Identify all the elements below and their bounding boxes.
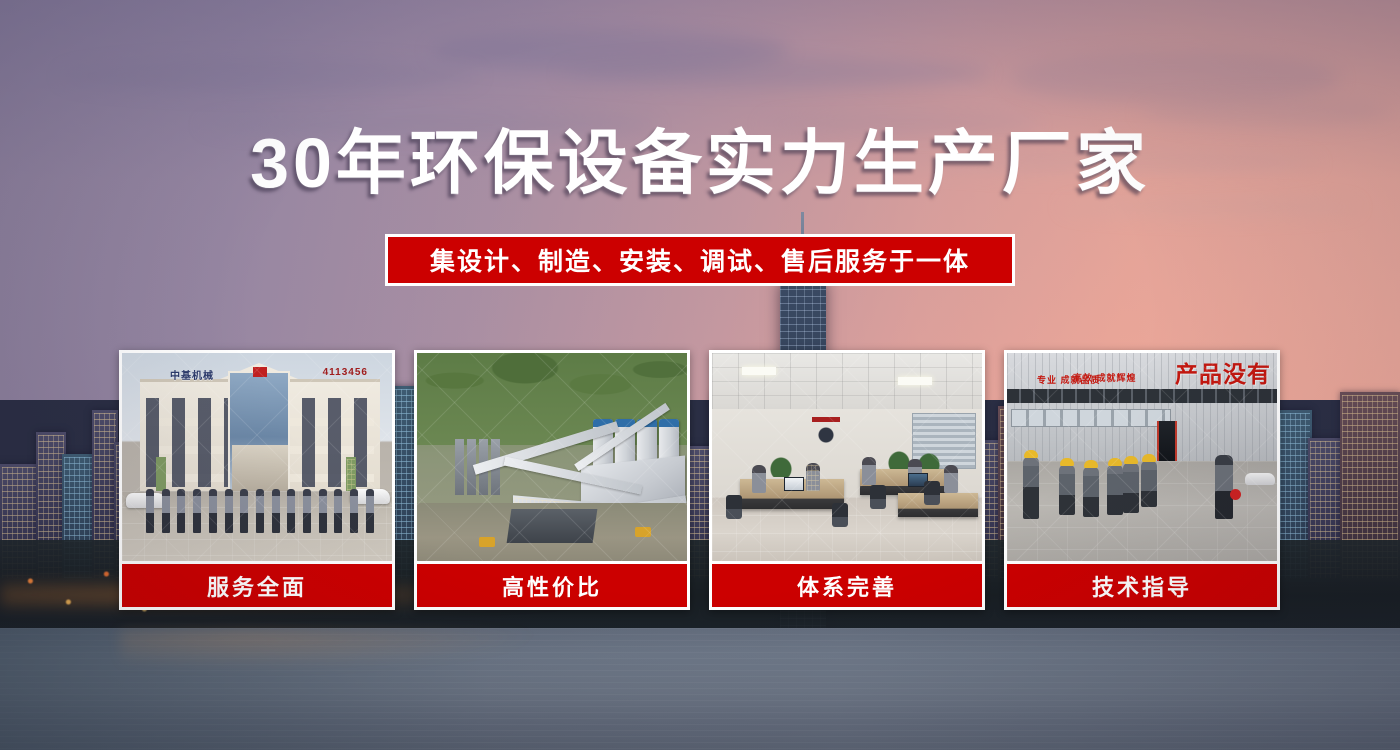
- factory-workers-training-photo: 产品没有 专业 成就品质 高效 成就辉煌: [1007, 353, 1277, 561]
- potted-plant: [888, 451, 910, 471]
- hero-banner: 30年环保设备实力生产厂家 集设计、制造、安装、调试、售后服务于一体 中基机械 …: [0, 0, 1400, 750]
- dark-shed-roof: [507, 509, 598, 543]
- card-label-text: 体系完善: [797, 570, 897, 602]
- office-chair: [832, 503, 848, 527]
- factory-windows: [1011, 409, 1171, 427]
- wall-decal: [808, 417, 844, 447]
- office-worker: [862, 457, 876, 485]
- card-label-text: 服务全面: [207, 570, 307, 602]
- phone-sign-text: 4113456: [323, 367, 368, 378]
- office-worker: [944, 465, 958, 493]
- card-label-bar: 服务全面: [122, 561, 392, 607]
- card-label-bar: 高性价比: [417, 561, 687, 607]
- card-label-text: 技术指导: [1092, 570, 1192, 602]
- ceiling-light: [742, 367, 776, 375]
- potted-plant: [770, 457, 792, 477]
- subtitle-banner: 集设计、制造、安装、调试、售后服务于一体: [385, 234, 1015, 286]
- office-interior-staff-photo: [712, 353, 982, 561]
- worker-with-hardhat: [1123, 463, 1139, 513]
- factory-door: [1157, 421, 1177, 461]
- building-entrance: [232, 445, 288, 491]
- feature-card-value[interactable]: 高性价比: [414, 350, 690, 610]
- card-label-text: 高性价比: [502, 570, 602, 602]
- feature-card-system[interactable]: 体系完善: [709, 350, 985, 610]
- smokestack: [455, 439, 464, 495]
- worker-with-hardhat: [1107, 465, 1123, 515]
- factory-sign-main-text: 产品没有: [1175, 355, 1271, 389]
- office-ceiling: [712, 353, 982, 409]
- ceiling-light: [898, 377, 932, 385]
- feature-card-service[interactable]: 中基机械 4113456 服务全面: [119, 350, 395, 610]
- factory-window-strip: [1007, 389, 1277, 403]
- worker-with-hardhat: [1141, 461, 1157, 507]
- staff-lineup: [146, 489, 374, 533]
- office-worker: [752, 465, 766, 493]
- subtitle-text: 集设计、制造、安装、调试、售后服务于一体: [430, 242, 970, 278]
- flag-icon: [253, 367, 267, 377]
- page-title: 30年环保设备实力生产厂家: [0, 128, 1400, 198]
- feature-card-training[interactable]: 产品没有 专业 成就品质 高效 成就辉煌 技术指导: [1004, 350, 1280, 610]
- company-sign-text: 中基机械: [170, 367, 214, 382]
- card-label-bar: 技术指导: [1007, 561, 1277, 607]
- excavator: [635, 527, 651, 537]
- excavator: [479, 537, 495, 547]
- parked-car: [1245, 473, 1275, 485]
- factory-sign-mid-text: 高效 成就辉煌: [1073, 373, 1137, 385]
- company-office-building-staff-photo: 中基机械 4113456: [122, 353, 392, 561]
- worker-with-hardhat: [1059, 465, 1075, 515]
- supervisor: [1215, 455, 1233, 519]
- feature-card-row: 中基机械 4113456 服务全面: [119, 350, 1282, 610]
- worker-with-hardhat: [1083, 467, 1099, 517]
- water-reflection: [120, 630, 540, 670]
- office-chair: [924, 481, 940, 505]
- laptop: [784, 477, 804, 491]
- aerial-industrial-plant-photo: [417, 353, 687, 561]
- plant-complex: [417, 413, 687, 561]
- card-label-bar: 体系完善: [712, 561, 982, 607]
- red-hardhat-icon: [1230, 489, 1241, 500]
- office-chair: [726, 495, 742, 519]
- office-worker: [806, 463, 820, 491]
- office-chair: [870, 485, 886, 509]
- worker-with-hardhat: [1023, 457, 1039, 519]
